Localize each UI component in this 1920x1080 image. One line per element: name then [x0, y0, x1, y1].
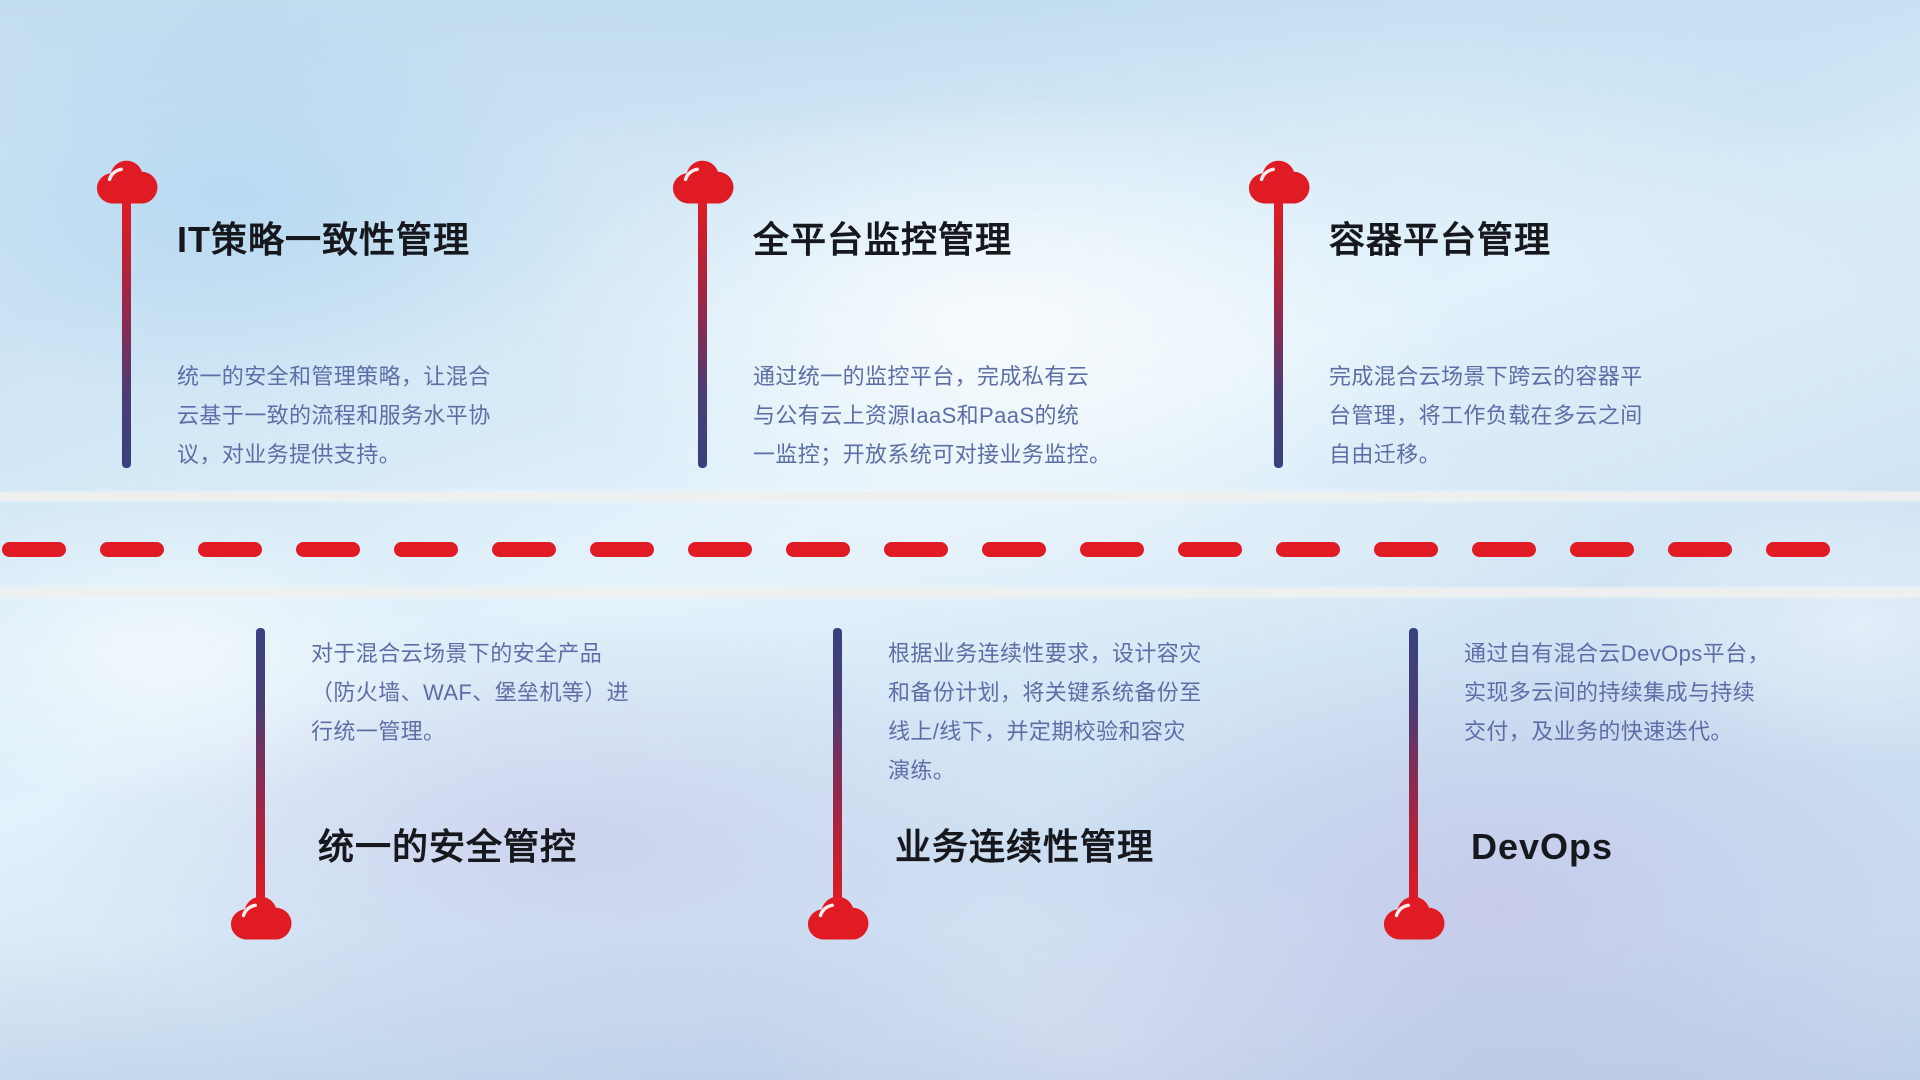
road-dash [1766, 542, 1830, 557]
road-dash [492, 542, 556, 557]
bottom-title-1: 统一的安全管控 [318, 825, 577, 868]
bottom-title-2: 业务连续性管理 [895, 825, 1154, 868]
body-line: 线上/线下，并定期校验和容灾 [888, 712, 1358, 751]
cloud-icon [672, 160, 734, 204]
pin-bar [1409, 628, 1418, 910]
road-dash [1570, 542, 1634, 557]
body-line: （防火墙、WAF、堡垒机等）进 [311, 673, 781, 712]
body-line: 演练。 [888, 751, 1358, 790]
road-dash [1374, 542, 1438, 557]
pin-bar [833, 628, 842, 910]
road-dash-row [0, 542, 1920, 557]
road-dash [100, 542, 164, 557]
road-dash [590, 542, 654, 557]
pin-bar [256, 628, 265, 910]
road-dash [198, 542, 262, 557]
bottom-title-3: DevOps [1471, 825, 1613, 868]
body-line: 统一的安全和管理策略，让混合 [177, 357, 647, 396]
body-line: 根据业务连续性要求，设计容灾 [888, 634, 1358, 673]
body-line: 对于混合云场景下的安全产品 [311, 634, 781, 673]
body-line: 台管理，将工作负载在多云之间 [1329, 396, 1799, 435]
road-dash [1472, 542, 1536, 557]
road-dash [1276, 542, 1340, 557]
road-line-bottom [0, 588, 1920, 597]
body-line: 交付，及业务的快速迭代。 [1464, 712, 1920, 751]
pin-bar [122, 200, 131, 468]
pin-bar [1274, 200, 1283, 468]
cloud-icon [807, 896, 869, 940]
road-dash [1080, 542, 1144, 557]
bottom-body-1: 对于混合云场景下的安全产品 （防火墙、WAF、堡垒机等）进 行统一管理。 [311, 634, 781, 751]
body-line: 通过统一的监控平台，完成私有云 [753, 357, 1223, 396]
top-body-2: 通过统一的监控平台，完成私有云 与公有云上资源IaaS和PaaS的统 一监控；开… [753, 357, 1223, 474]
road-dash [688, 542, 752, 557]
bottom-body-2: 根据业务连续性要求，设计容灾 和备份计划，将关键系统备份至 线上/线下，并定期校… [888, 634, 1358, 791]
bottom-body-3: 通过自有混合云DevOps平台， 实现多云间的持续集成与持续 交付，及业务的快速… [1464, 634, 1920, 751]
top-body-1: 统一的安全和管理策略，让混合 云基于一致的流程和服务水平协 议，对业务提供支持。 [177, 357, 647, 474]
pin-bar [698, 200, 707, 468]
top-title-1: IT策略一致性管理 [177, 218, 470, 261]
road-dash [1178, 542, 1242, 557]
top-title-2: 全平台监控管理 [753, 218, 1012, 261]
body-line: 行统一管理。 [311, 712, 781, 751]
body-line: 实现多云间的持续集成与持续 [1464, 673, 1920, 712]
body-line: 和备份计划，将关键系统备份至 [888, 673, 1358, 712]
body-line: 议，对业务提供支持。 [177, 435, 647, 474]
infographic-canvas: IT策略一致性管理 统一的安全和管理策略，让混合 云基于一致的流程和服务水平协 … [0, 0, 1920, 1080]
top-body-3: 完成混合云场景下跨云的容器平 台管理，将工作负载在多云之间 自由迁移。 [1329, 357, 1799, 474]
road-dash [884, 542, 948, 557]
cloud-icon [1248, 160, 1310, 204]
road-dash [296, 542, 360, 557]
road-dash [1668, 542, 1732, 557]
top-title-3: 容器平台管理 [1329, 218, 1551, 261]
body-line: 云基于一致的流程和服务水平协 [177, 396, 647, 435]
body-line: 通过自有混合云DevOps平台， [1464, 634, 1920, 673]
body-line: 自由迁移。 [1329, 435, 1799, 474]
road-dash [394, 542, 458, 557]
body-line: 完成混合云场景下跨云的容器平 [1329, 357, 1799, 396]
road-line-top [0, 492, 1920, 501]
road-dash [2, 542, 66, 557]
cloud-icon [230, 896, 292, 940]
cloud-icon [96, 160, 158, 204]
cloud-icon [1383, 896, 1445, 940]
body-line: 与公有云上资源IaaS和PaaS的统 [753, 396, 1223, 435]
body-line: 一监控；开放系统可对接业务监控。 [753, 435, 1223, 474]
road-dash [786, 542, 850, 557]
road-dash [982, 542, 1046, 557]
